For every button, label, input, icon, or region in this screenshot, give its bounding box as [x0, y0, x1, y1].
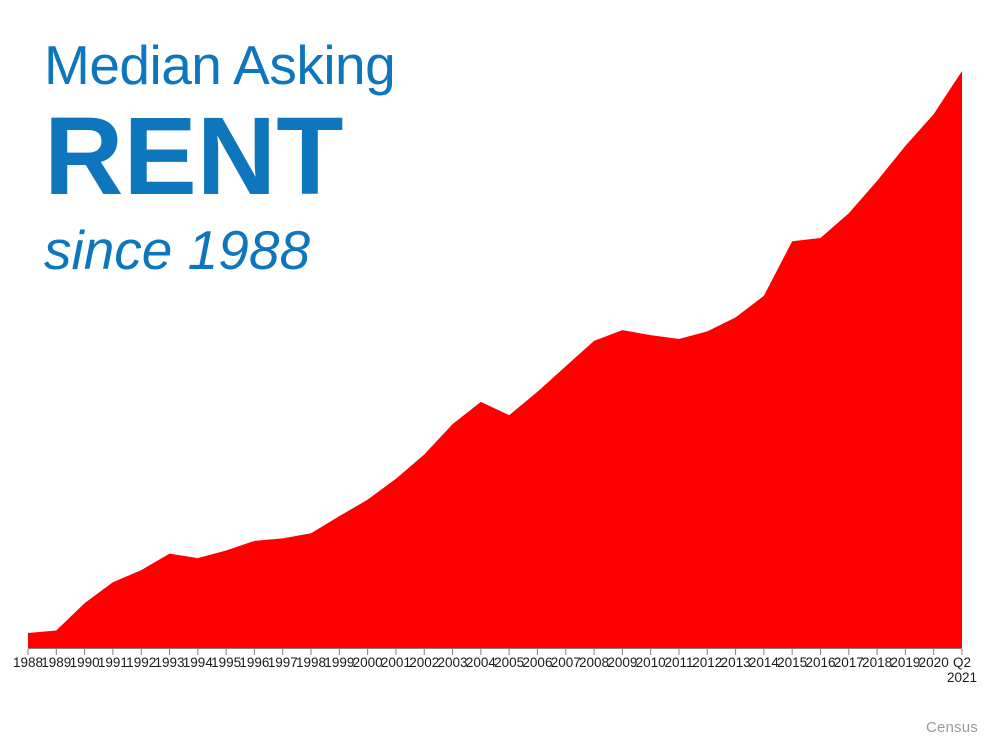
chart-plot-group [28, 71, 962, 648]
x-axis-tick-label-line1: 2005 [494, 655, 524, 670]
x-axis-tick-label: 2015 [777, 655, 807, 670]
chart-page: Median Asking RENT since 1988 1988198919… [0, 0, 1000, 750]
x-axis-tick-label: 2002 [409, 655, 439, 670]
x-axis-tick-label-line1: 1999 [324, 655, 354, 670]
x-axis-tick-label-line1: 1993 [154, 655, 184, 670]
x-axis-tick-label: 2011 [664, 655, 693, 670]
x-axis-tick-label-line1: 1998 [296, 655, 326, 670]
x-axis-tick-label-line1: 1988 [13, 655, 43, 670]
x-axis-tick-label-line1: 2020 [919, 655, 949, 670]
x-axis-tick-label: 2006 [522, 655, 552, 670]
x-axis-tick-label: 1994 [183, 655, 213, 670]
x-axis-tick-label-line1: 2003 [438, 655, 468, 670]
rent-area-series [28, 71, 962, 648]
x-axis-tick-label: 2010 [636, 655, 666, 670]
x-axis-tick-label-line1: 2007 [551, 655, 581, 670]
x-axis-tick-label: 2020 [919, 655, 949, 670]
x-axis-tick-label: 1992 [126, 655, 156, 670]
x-axis-tick-label: 1999 [324, 655, 354, 670]
x-axis-tick-label: 2000 [353, 655, 383, 670]
x-axis-tick-label-line1: 2006 [522, 655, 552, 670]
x-axis-tick-label-line1: 2012 [692, 655, 722, 670]
x-axis-tick-label: 2004 [466, 655, 496, 670]
x-axis-tick-label-line1: 2002 [409, 655, 439, 670]
x-axis-tick-label-line1: 1996 [239, 655, 269, 670]
x-axis-tick-label: 2017 [834, 655, 864, 670]
x-axis-tick-label-line1: 2018 [862, 655, 892, 670]
x-axis-tick-label: 1989 [41, 655, 71, 670]
x-axis-tick-label-line1: 2001 [381, 655, 411, 670]
x-axis-tick-label: 1998 [296, 655, 326, 670]
x-axis-tick-label: 2016 [805, 655, 835, 670]
x-axis-tick-label: 1988 [13, 655, 43, 670]
x-axis-tick-label: 1996 [239, 655, 269, 670]
x-axis-tick-label: 2001 [381, 655, 411, 670]
x-axis-tick-label: Q22021 [947, 655, 977, 685]
x-axis-tick-label-line1: 2016 [805, 655, 835, 670]
x-axis-tick-label-line1: 2013 [721, 655, 751, 670]
x-axis-tick-label: 1995 [211, 655, 241, 670]
x-axis-tick-label-line1: 2009 [607, 655, 637, 670]
x-axis-tick-label-line1: 2014 [749, 655, 779, 670]
x-axis-labels: 1988198919901991199219931994199519961997… [0, 655, 1000, 700]
x-axis-tick-label-line1: 1990 [70, 655, 100, 670]
x-axis-tick-label: 2018 [862, 655, 892, 670]
x-axis-tick-label: 2013 [721, 655, 751, 670]
x-axis-tick-label-line1: 1995 [211, 655, 241, 670]
x-axis-tick-label: 1997 [268, 655, 298, 670]
source-label: Census [926, 719, 978, 736]
x-axis-tick-label-line1: 1991 [98, 655, 128, 670]
x-axis-tick-label-line1: 2004 [466, 655, 496, 670]
x-axis-tick-label: 1990 [70, 655, 100, 670]
x-axis-tick-label-line1: 2015 [777, 655, 807, 670]
x-axis-tick-label-line1: 2019 [890, 655, 920, 670]
x-axis-tick-label: 2005 [494, 655, 524, 670]
x-axis-tick-label: 2014 [749, 655, 779, 670]
x-axis-tick-label-line1: 2011 [664, 655, 693, 670]
x-axis-tick-label-line1: 2000 [353, 655, 383, 670]
x-axis-tick-label-line1: 2017 [834, 655, 864, 670]
x-axis-tick-label-line1: 1989 [41, 655, 71, 670]
x-axis-tick-label-line1: Q2 [953, 655, 971, 670]
x-axis-tick-label-line1: 2008 [579, 655, 609, 670]
x-axis-tick-label: 1993 [154, 655, 184, 670]
x-axis-tick-label-line2: 2021 [947, 670, 977, 685]
x-axis-tick-label: 2012 [692, 655, 722, 670]
x-axis-tick-label-line1: 2010 [636, 655, 666, 670]
x-axis-tick-label: 2007 [551, 655, 581, 670]
x-axis-tick-label: 2009 [607, 655, 637, 670]
x-axis-tick-label: 2003 [438, 655, 468, 670]
x-axis-tick-label-line1: 1994 [183, 655, 213, 670]
chart-svg [0, 0, 1000, 700]
x-axis-tick-label-line1: 1992 [126, 655, 156, 670]
x-axis-tick-label: 2008 [579, 655, 609, 670]
x-axis-tick-label: 1991 [98, 655, 128, 670]
x-axis-tick-label-line1: 1997 [268, 655, 298, 670]
x-axis-tick-label: 2019 [890, 655, 920, 670]
area-chart [0, 0, 1000, 700]
